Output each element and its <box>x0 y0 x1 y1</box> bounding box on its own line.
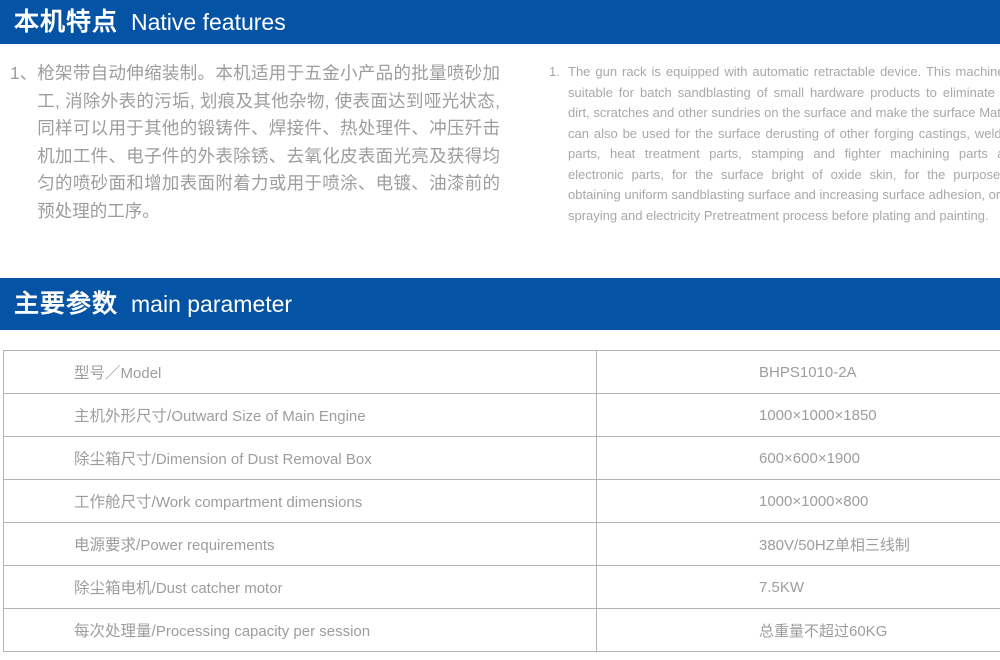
label-chinese: 工作舱尺寸 <box>74 494 152 511</box>
label-english: Power requirements <box>140 537 274 554</box>
label-chinese: 每次处理量 <box>74 623 152 640</box>
table-cell-label: 型号／Model <box>4 351 597 394</box>
section-title-param-en: main parameter <box>131 293 292 316</box>
feature-paragraph-chinese: 1、 枪架带自动伸缩装制。本机适用于五金小产品的批量喷砂加工, 消除外表的污垢,… <box>10 60 500 225</box>
list-marker-cn: 1、 <box>10 60 37 88</box>
table-cell-label: 主机外形尺寸/Outward Size of Main Engine <box>4 394 597 437</box>
label-english: Model <box>121 365 162 382</box>
parameter-table-body: 型号／ModelBHPS1010-2A主机外形尺寸/Outward Size o… <box>4 351 1000 652</box>
section-title-native-en: Native features <box>131 11 286 34</box>
label-separator: ／ <box>105 365 121 382</box>
feature-paragraph-english: 1. The gun rack is equipped with automat… <box>549 62 1000 226</box>
label-chinese: 电源要求 <box>74 537 136 554</box>
table-row: 每次处理量/Processing capacity per session总重量… <box>4 609 1000 652</box>
table-cell-value: 1000×1000×1850 <box>597 394 1000 437</box>
table-cell-value: 总重量不超过60KG <box>597 609 1000 652</box>
parameter-table: 型号／ModelBHPS1010-2A主机外形尺寸/Outward Size o… <box>3 350 1000 652</box>
label-english: Work compartment dimensions <box>156 494 362 511</box>
table-cell-label: 除尘箱电机/Dust catcher motor <box>4 566 597 609</box>
section-title-native-cn: 本机特点 <box>14 10 118 35</box>
list-text-cn: 枪架带自动伸缩装制。本机适用于五金小产品的批量喷砂加工, 消除外表的污垢, 划痕… <box>37 60 500 225</box>
list-item: 1、 枪架带自动伸缩装制。本机适用于五金小产品的批量喷砂加工, 消除外表的污垢,… <box>10 60 500 225</box>
table-row: 除尘箱电机/Dust catcher motor7.5KW <box>4 566 1000 609</box>
table-cell-label: 电源要求/Power requirements <box>4 523 597 566</box>
table-row: 除尘箱尺寸/Dimension of Dust Removal Box600×6… <box>4 437 1000 480</box>
table-cell-value: 7.5KW <box>597 566 1000 609</box>
label-chinese: 除尘箱电机 <box>74 580 152 597</box>
label-chinese: 型号 <box>74 365 105 382</box>
table-row: 型号／ModelBHPS1010-2A <box>4 351 1000 394</box>
table-cell-value: 1000×1000×800 <box>597 480 1000 523</box>
table-cell-value: BHPS1010-2A <box>597 351 1000 394</box>
table-cell-label: 除尘箱尺寸/Dimension of Dust Removal Box <box>4 437 597 480</box>
section-header-native-features: 本机特点 Native features <box>0 0 1000 44</box>
table-cell-value: 380V/50HZ单相三线制 <box>597 523 1000 566</box>
table-cell-value: 600×600×1900 <box>597 437 1000 480</box>
table-cell-label: 每次处理量/Processing capacity per session <box>4 609 597 652</box>
table-row: 主机外形尺寸/Outward Size of Main Engine1000×1… <box>4 394 1000 437</box>
list-item: 1. The gun rack is equipped with automat… <box>549 62 1000 226</box>
section-title-param-cn: 主要参数 <box>14 292 118 317</box>
label-chinese: 主机外形尺寸 <box>74 408 167 425</box>
table-row: 电源要求/Power requirements380V/50HZ单相三线制 <box>4 523 1000 566</box>
label-english: Processing capacity per session <box>156 623 370 640</box>
label-chinese: 除尘箱尺寸 <box>74 451 152 468</box>
section-header-main-parameter: 主要参数 main parameter <box>0 278 1000 330</box>
table-row: 工作舱尺寸/Work compartment dimensions1000×10… <box>4 480 1000 523</box>
label-english: Dust catcher motor <box>156 580 283 597</box>
table-cell-label: 工作舱尺寸/Work compartment dimensions <box>4 480 597 523</box>
label-english: Outward Size of Main Engine <box>171 408 365 425</box>
native-features-content: 1、 枪架带自动伸缩装制。本机适用于五金小产品的批量喷砂加工, 消除外表的污垢,… <box>0 44 1000 278</box>
list-marker-en: 1. <box>549 62 568 83</box>
list-text-en: The gun rack is equipped with automatic … <box>568 62 1000 226</box>
label-english: Dimension of Dust Removal Box <box>156 451 372 468</box>
